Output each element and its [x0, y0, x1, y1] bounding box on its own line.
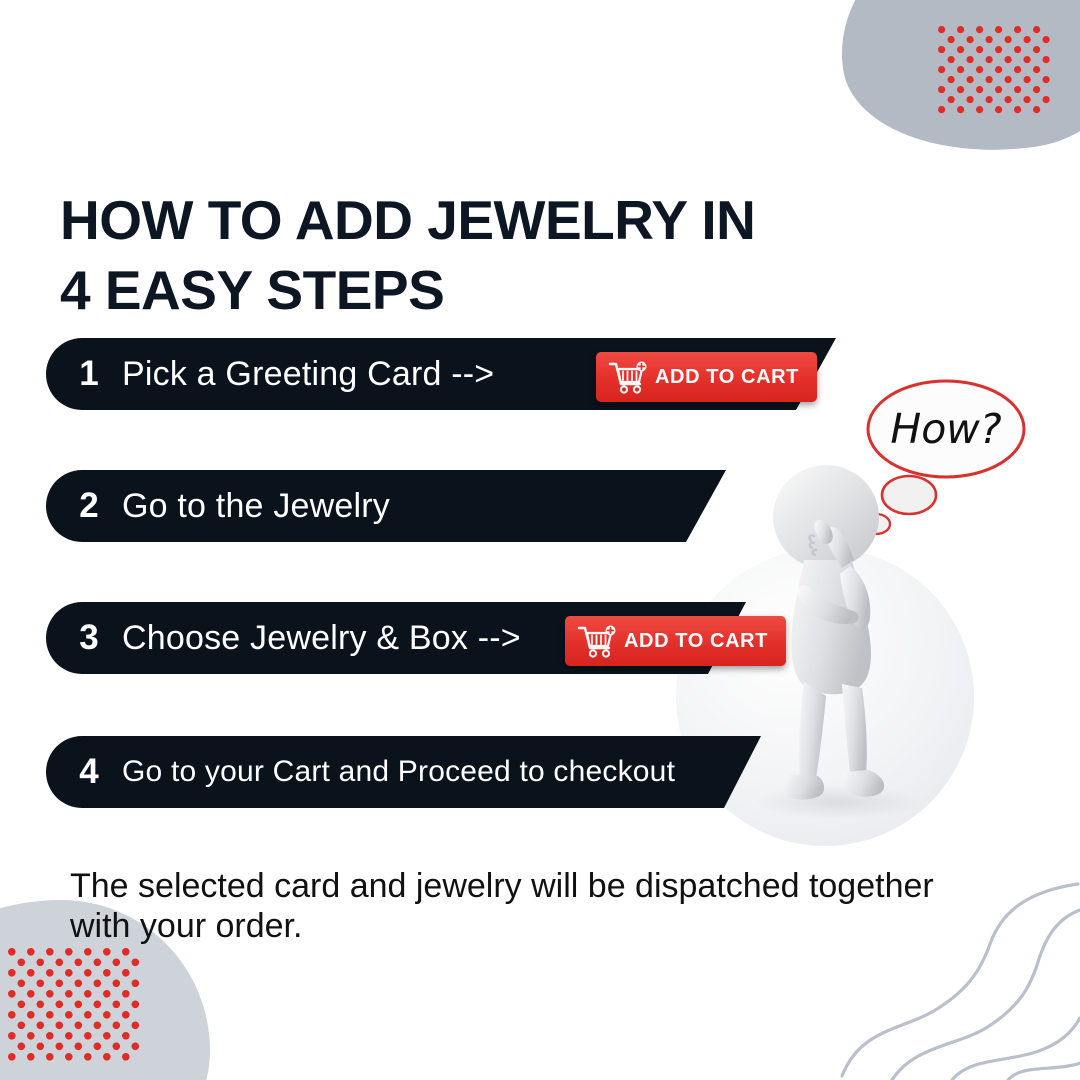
shopping-cart-plus-icon	[577, 624, 617, 658]
caption-text: The selected card and jewelry will be di…	[70, 866, 970, 946]
step-content-3: 3 Choose Jewelry & Box -->	[46, 602, 521, 674]
red-dot-grid-bottom-left	[8, 948, 148, 1066]
step-content-4: 4 Go to your Cart and Proceed to checkou…	[46, 736, 675, 808]
red-dot-grid-top-right	[938, 26, 1058, 118]
step-number: 1	[60, 354, 118, 394]
infographic-canvas: HOW TO ADD JEWELRY IN 4 EASY STEPS 1 Pic…	[0, 0, 1080, 1080]
step-content-2: 2 Go to the Jewelry	[46, 470, 390, 542]
page-title: HOW TO ADD JEWELRY IN 4 EASY STEPS	[60, 185, 900, 326]
add-to-cart-label: ADD TO CART	[655, 366, 799, 389]
step-label: Pick a Greeting Card -->	[122, 355, 494, 394]
step-label: Choose Jewelry & Box -->	[122, 619, 521, 658]
step-number: 3	[60, 618, 118, 658]
add-to-cart-button-step3[interactable]: ADD TO CART	[565, 616, 786, 666]
add-to-cart-button-step1[interactable]: ADD TO CART	[596, 352, 817, 402]
step-number: 4	[60, 752, 118, 792]
step-label: Go to your Cart and Proceed to checkout	[122, 755, 675, 789]
step-row-4: 4 Go to your Cart and Proceed to checkou…	[46, 736, 761, 808]
shopping-cart-plus-icon	[608, 360, 648, 394]
add-to-cart-label: ADD TO CART	[624, 630, 768, 653]
step-row-2: 2 Go to the Jewelry	[46, 470, 726, 542]
step-row-1: 1 Pick a Greeting Card --> ADD TO CART	[46, 338, 836, 410]
step-label: Go to the Jewelry	[122, 487, 390, 526]
step-row-3: 3 Choose Jewelry & Box --> ADD TO CART	[46, 602, 746, 674]
step-number: 2	[60, 486, 118, 526]
step-content-1: 1 Pick a Greeting Card -->	[46, 338, 494, 410]
gray-blob-top-right	[825, 0, 1080, 172]
